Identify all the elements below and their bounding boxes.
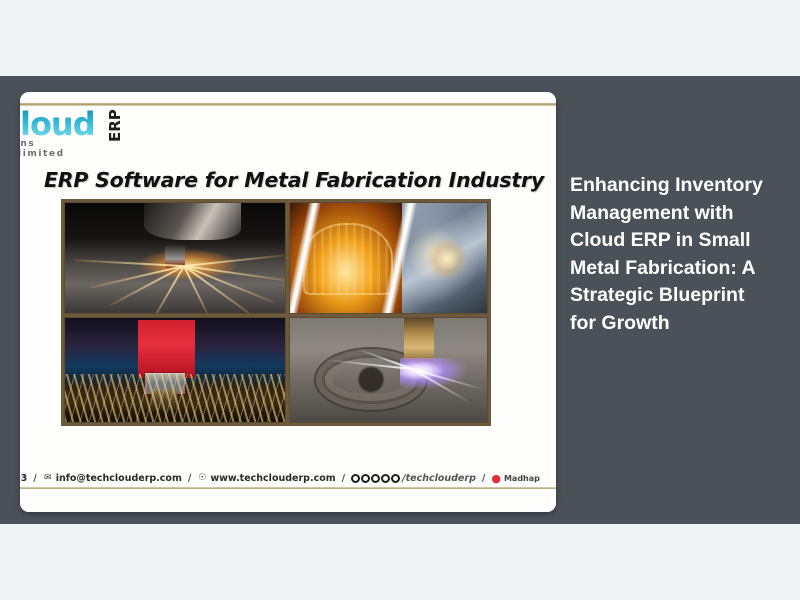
- facebook-icon[interactable]: [351, 474, 360, 483]
- globe-icon: ☉: [197, 473, 207, 483]
- footer-address-text: Madhap: [504, 474, 540, 483]
- footer-address-item: ● Madhap: [491, 472, 540, 485]
- image-collage: [61, 199, 491, 426]
- slide-inner: cloud ERP tions unlimited ERP Software f…: [20, 92, 556, 512]
- footer-website-item[interactable]: ☉ www.techclouderp.com: [197, 473, 335, 484]
- twitter-icon[interactable]: [361, 474, 370, 483]
- instagram-icon[interactable]: [391, 474, 400, 483]
- press-body-shape: [138, 320, 195, 378]
- collage-cell-laser-cutting-sparks: [64, 202, 286, 314]
- youtube-icon[interactable]: [381, 474, 390, 483]
- logo-tagline: tions unlimited: [20, 139, 95, 159]
- page-root: cloud ERP tions unlimited ERP Software f…: [0, 0, 800, 600]
- footer-social-icons[interactable]: [351, 474, 400, 483]
- footer-email-item[interactable]: ✉ info@techclouderp.com: [43, 473, 182, 484]
- footer-separator: /: [33, 473, 36, 484]
- laser-arm-shape: [144, 203, 241, 240]
- article-title: Enhancing Inventory Management with Clou…: [570, 172, 766, 337]
- footer-separator: /: [342, 473, 345, 484]
- footer-website-text: www.techclouderp.com: [210, 473, 335, 484]
- footer-social-handle: /techclouderp: [402, 473, 476, 484]
- collage-cell-red-press-machine: [64, 317, 286, 423]
- linkedin-icon[interactable]: [371, 474, 380, 483]
- slide-preview-card[interactable]: cloud ERP tions unlimited ERP Software f…: [20, 92, 556, 512]
- plasma-flare-shape: [400, 358, 467, 389]
- slide-footer-contact-bar: 03 / ✉ info@techclouderp.com / ☉ www.tec…: [20, 468, 556, 488]
- slide-top-rule: [20, 103, 556, 106]
- collage-cell-furnace-and-machinery: [289, 202, 488, 314]
- collage-cell-plasma-cutting-plate: [289, 317, 488, 423]
- logo-erp-mark: ERP: [106, 109, 124, 142]
- footer-separator: /: [188, 473, 191, 484]
- logo-wordmark: cloud: [20, 108, 95, 140]
- map-pin-icon: ●: [491, 472, 501, 485]
- footer-phone-fragment: 03: [20, 473, 27, 484]
- footer-separator: /: [482, 473, 485, 484]
- plasma-torch-shape: [404, 317, 434, 362]
- brand-logo: cloud ERP tions unlimited: [20, 108, 95, 150]
- machinery-image-shape: [402, 203, 487, 313]
- footer-email-text: info@techclouderp.com: [56, 473, 182, 484]
- spark-bed-shape: [65, 374, 285, 422]
- envelope-icon: ✉: [43, 473, 53, 483]
- slide-heading: ERP Software for Metal Fabrication Indus…: [20, 168, 556, 192]
